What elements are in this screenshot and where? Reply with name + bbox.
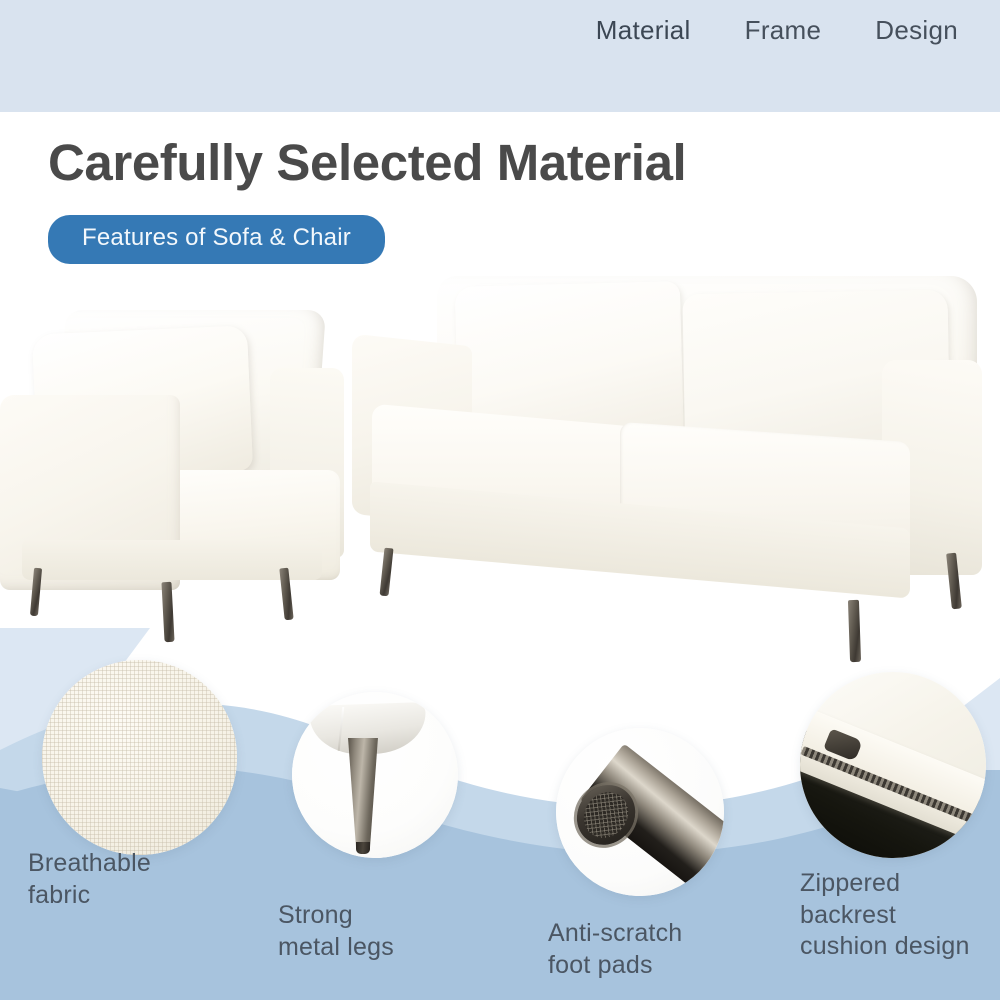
nav-tabs: Material Frame Design [592,14,962,50]
feature-caption-zippered-cushion: Zippered backrest cushion design [800,868,1000,963]
anti-scratch-foot-pad-icon [556,728,724,896]
foot-pad-circle [556,728,724,896]
fabric-swatch-circle [42,660,237,855]
tab-material[interactable]: Material [592,14,695,50]
sofa-leg [380,548,394,597]
armchair-base [22,540,322,580]
page-title: Carefully Selected Material [48,133,848,193]
features-badge[interactable]: Features of Sofa & Chair [48,215,385,264]
zipper-cushion-circle [800,672,986,858]
header-band: Material Frame Design [0,0,1000,112]
armchair-alt-text: White upholstered accent armchair with d… [0,310,1,311]
metal-leg-circle [292,692,458,858]
tab-frame-label: Frame [745,15,822,45]
feature-caption-foot-pads: Anti-scratch foot pads [548,918,748,981]
tab-material-label: Material [596,15,691,45]
tab-design-label: Design [875,15,958,45]
metal-leg-icon [292,692,458,858]
sofa-alt-text: White upholstered two-seat sofa with dar… [352,270,353,271]
product-feature-page: Material Frame Design Carefully Selected… [0,0,1000,1000]
zippered-cushion-icon [800,672,986,858]
leg-tip [356,842,370,854]
leg-shaft [346,738,380,850]
tab-frame[interactable]: Frame [741,14,826,50]
tab-design[interactable]: Design [871,14,962,50]
armchair-image: White upholstered accent armchair with d… [0,310,350,610]
title-block: Carefully Selected Material Features of … [48,133,848,264]
feature-caption-metal-legs: Strong metal legs [278,900,478,963]
breathable-fabric-icon [42,660,237,855]
feature-caption-fabric: Breathable fabric [28,848,258,911]
